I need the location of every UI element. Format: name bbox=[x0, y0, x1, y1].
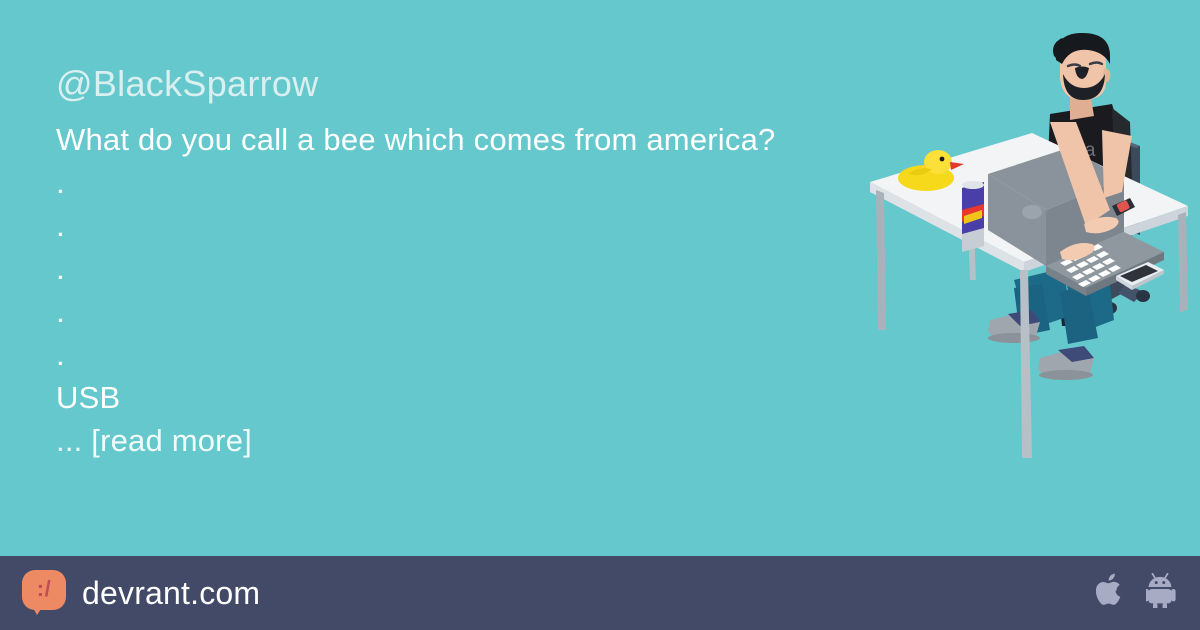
rant-username[interactable]: @BlackSparrow bbox=[56, 62, 816, 106]
developer-at-desk-illustration: java bbox=[864, 30, 1194, 460]
rant-line: . bbox=[56, 333, 816, 376]
speech-bubble-face-text: :/ bbox=[22, 570, 66, 610]
apple-icon[interactable] bbox=[1096, 572, 1126, 608]
rant-line: . bbox=[56, 290, 816, 333]
brand-name-label: devrant.com bbox=[82, 576, 260, 610]
rant-line: . bbox=[56, 161, 816, 204]
devrant-share-card: java bbox=[0, 0, 1200, 630]
footer-bar: :/ devrant.com bbox=[0, 556, 1200, 630]
devrant-brand[interactable]: :/ devrant.com bbox=[22, 570, 260, 616]
rant-line: USB bbox=[56, 376, 816, 419]
energy-drink-can bbox=[962, 181, 984, 252]
android-icon[interactable] bbox=[1146, 572, 1178, 608]
rant-content: @BlackSparrow What do you call a bee whi… bbox=[56, 62, 816, 462]
devrant-logo-icon: :/ bbox=[22, 570, 68, 616]
rant-line: . bbox=[56, 204, 816, 247]
rant-line: . bbox=[56, 247, 816, 290]
read-more-link[interactable]: ... [read more] bbox=[56, 419, 816, 462]
rant-line: What do you call a bee which comes from … bbox=[56, 118, 816, 161]
store-badges bbox=[1096, 572, 1178, 608]
rant-body: What do you call a bee which comes from … bbox=[56, 118, 816, 462]
